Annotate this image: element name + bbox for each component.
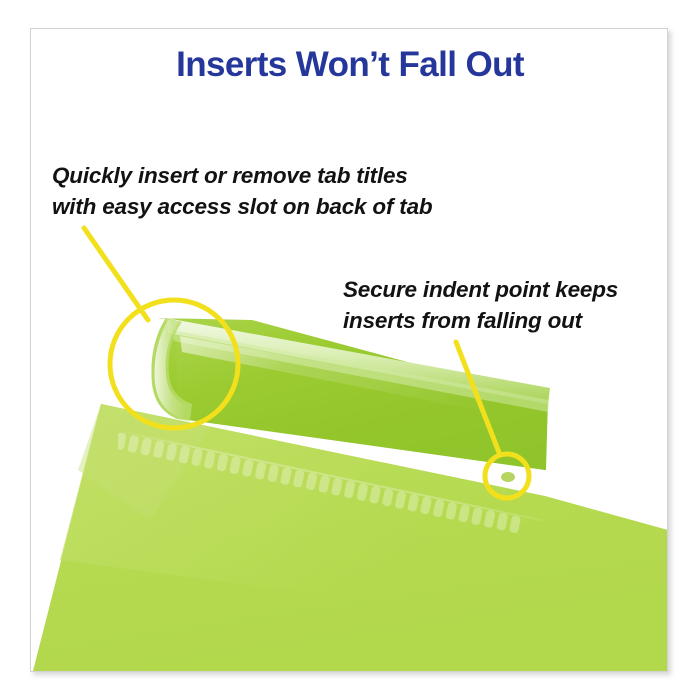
sheet-corner-light [78,404,210,520]
product-card [30,28,668,672]
sheet-body [33,404,668,671]
tab-indent-point [501,472,515,482]
callout-right-line-2: inserts from falling out [343,305,618,336]
tab-sheen [180,336,548,424]
leader-line-left [84,228,148,320]
tab-left-fold [152,318,192,421]
tab-access-slot-inner-shadow [138,304,162,414]
product-feature-image: Inserts Won’t Fall Out Quickly insert or… [0,0,700,700]
product-photo [30,28,668,672]
seam-line [118,430,545,520]
divider-sheet [33,404,668,671]
sheet-highlight [60,404,545,600]
tab-body [152,318,548,470]
callout-left-line-1: Quickly insert or remove tab titles [52,160,432,191]
page-title: Inserts Won’t Fall Out [0,45,700,85]
callout-right-line-1: Secure indent point keeps [343,274,618,305]
callout-right: Secure indent point keeps inserts from f… [343,274,618,336]
indent-point-highlight-circle [485,454,529,498]
tab-seam-texture [114,430,545,534]
tab-left-fold-sheen [155,320,186,418]
annotation-overlay [84,228,529,498]
seam-teeth [114,432,521,534]
callout-left-line-2: with easy access slot on back of tab [52,191,432,222]
tab-access-slot [120,300,168,418]
leader-line-right [456,342,500,455]
access-slot-highlight-circle [110,300,238,428]
tab-face [176,330,548,470]
callout-left: Quickly insert or remove tab titles with… [52,160,432,222]
tab-inner-lip [172,330,549,412]
